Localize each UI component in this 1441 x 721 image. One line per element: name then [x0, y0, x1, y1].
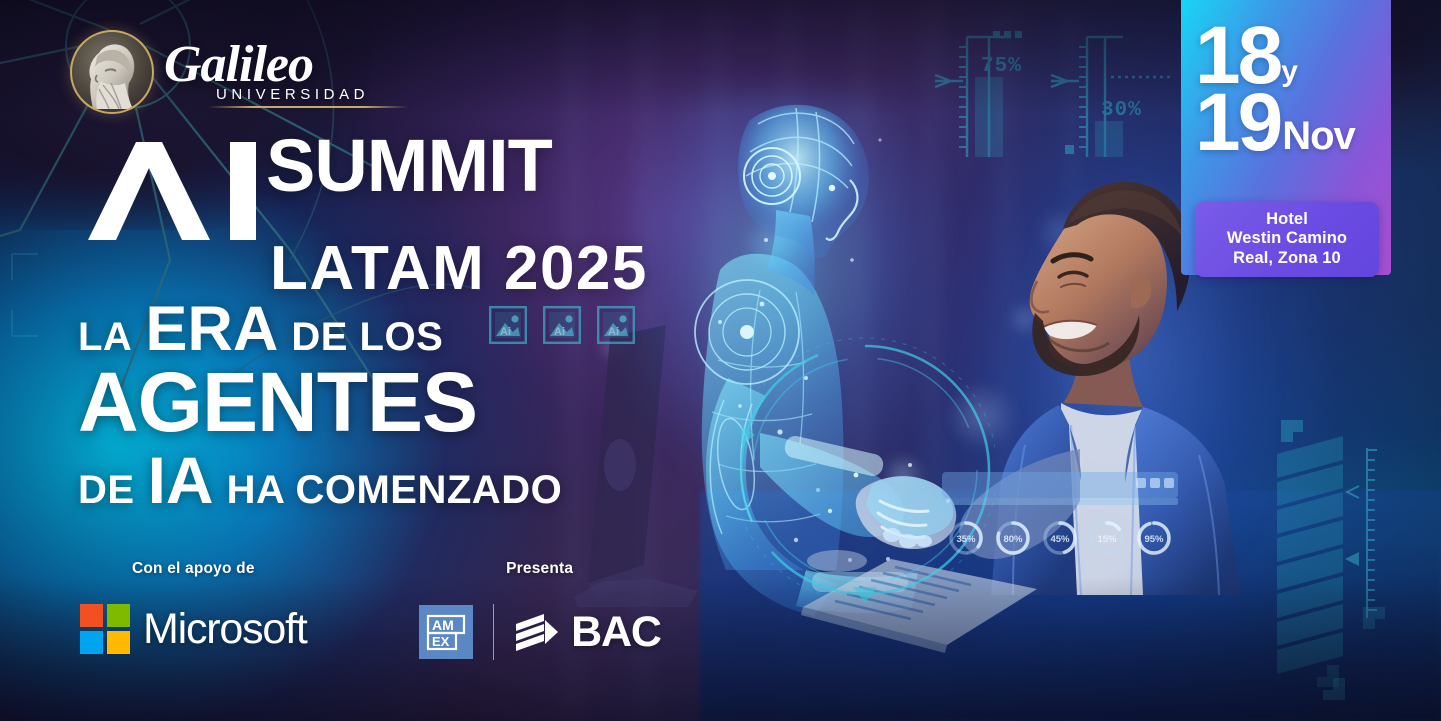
- amex-label-am: AM: [432, 617, 454, 633]
- sponsors-section: Con el apoyo de Microsoft Presenta: [80, 560, 661, 660]
- tagline-de: DE: [78, 470, 135, 510]
- amex-logo[interactable]: AM EX: [419, 605, 473, 659]
- microsoft-square-green: [107, 604, 130, 627]
- sponsor-support-label: Con el apoyo de: [132, 560, 255, 578]
- date-conjunction: y: [1281, 60, 1298, 90]
- bac-logo[interactable]: BAC: [514, 608, 661, 657]
- tagline-line-2: AGENTES: [78, 363, 562, 443]
- event-title-latam: LATAM 2025: [270, 240, 648, 298]
- galileo-wordmark: Galileo UNIVERSIDAD: [164, 36, 408, 107]
- tagline-de-los: DE LOS: [291, 317, 443, 357]
- sponsor-support-column: Con el apoyo de Microsoft: [80, 560, 307, 654]
- ai-logo-mark: [78, 136, 268, 244]
- microsoft-square-red: [80, 604, 103, 627]
- sponsor-divider: [493, 604, 495, 660]
- amex-label-ex: EX: [432, 634, 450, 649]
- tagline-ha-comenzado: HA COMENZADO: [227, 470, 563, 510]
- tagline-la: LA: [78, 317, 132, 357]
- microsoft-logo[interactable]: Microsoft: [80, 604, 307, 654]
- sponsor-presents-label: Presenta: [506, 560, 573, 578]
- galileo-bust-icon: [77, 37, 147, 111]
- bac-wordmark: BAC: [571, 608, 661, 657]
- event-title: SUMMIT LATAM 2025: [78, 132, 648, 298]
- date-row-day2: 19 Nov: [1195, 89, 1377, 156]
- venue-line-3: Real, Zona 10: [1201, 249, 1373, 268]
- venue-line-1: Hotel: [1201, 210, 1373, 229]
- bac-mark-icon: [514, 610, 560, 654]
- tagline-ia: IA: [148, 447, 214, 513]
- date-rows: 18 y 19 Nov: [1181, 22, 1391, 156]
- presenting-sponsor-logos: AM EX BAC: [419, 604, 661, 660]
- event-title-summit: SUMMIT: [266, 132, 552, 200]
- event-title-row-1: SUMMIT: [78, 132, 648, 244]
- microsoft-square-blue: [80, 631, 103, 654]
- microsoft-wordmark: Microsoft: [143, 605, 307, 654]
- tagline-agentes: AGENTES: [78, 363, 477, 443]
- tagline-line-3: DE IA HA COMENZADO: [78, 447, 562, 513]
- microsoft-squares-icon: [80, 604, 130, 654]
- date-month: Nov: [1282, 120, 1355, 157]
- galileo-university-logo[interactable]: Galileo UNIVERSIDAD: [70, 30, 408, 114]
- event-tagline: LA ERA DE LOS AGENTES DE IA HA COMENZADO: [78, 298, 562, 513]
- galileo-badge: [70, 30, 154, 114]
- microsoft-square-yellow: [107, 631, 130, 654]
- sponsor-presents-column: Presenta AM EX: [419, 560, 661, 660]
- tagline-era: ERA: [145, 298, 278, 361]
- galileo-subtitle: UNIVERSIDAD: [216, 86, 408, 103]
- venue-line-2: Westin Camino: [1201, 229, 1373, 248]
- galileo-rule: [208, 106, 408, 108]
- venue-badge[interactable]: Hotel Westin Camino Real, Zona 10: [1195, 202, 1379, 277]
- tagline-line-1: LA ERA DE LOS: [78, 298, 562, 361]
- event-date-panel: 18 y 19 Nov Hotel Westin Camino Real, Zo…: [1181, 0, 1391, 275]
- galileo-name: Galileo: [164, 40, 408, 90]
- event-banner: 75% 30%: [0, 0, 1441, 721]
- date-day-2: 19: [1195, 89, 1280, 156]
- amex-mark-icon: AM EX: [419, 605, 473, 659]
